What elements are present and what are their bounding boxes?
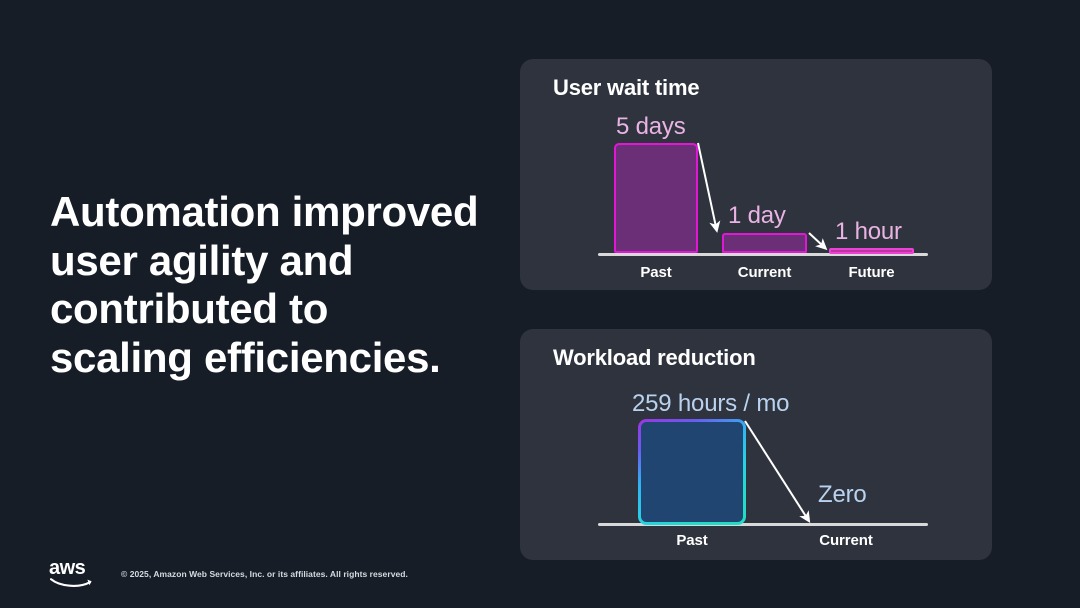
slide-canvas: Automation improved user agility and con…	[0, 0, 1080, 608]
category-label-current: Current	[722, 264, 807, 281]
bar-past	[614, 143, 698, 253]
value-label-current: Zero	[818, 481, 867, 509]
page-title: Automation improved user agility and con…	[50, 188, 480, 382]
category-label-future: Future	[829, 264, 914, 281]
value-label-current: 1 day	[728, 202, 786, 230]
chart-user-wait-time: 5 days 1 day 1 hour Past Current Future	[520, 59, 992, 290]
aws-logo-text: aws	[49, 558, 85, 578]
category-label-past: Past	[614, 264, 698, 281]
aws-logo-icon: aws	[49, 559, 95, 589]
category-label-current: Current	[792, 532, 900, 549]
card-workload-reduction: Workload reduction	[520, 329, 992, 560]
copyright-text: © 2025, Amazon Web Services, Inc. or its…	[121, 569, 408, 579]
value-label-past: 259 hours / mo	[632, 390, 789, 418]
chart-workload-reduction: 259 hours / mo Zero Past Current	[520, 329, 992, 560]
bar-past	[638, 419, 746, 525]
footer: aws © 2025, Amazon Web Services, Inc. or…	[49, 554, 408, 594]
aws-smile-icon	[50, 577, 94, 588]
bar-current	[722, 233, 807, 253]
value-label-future: 1 hour	[835, 218, 902, 246]
category-label-past: Past	[638, 532, 746, 549]
card-user-wait-time: User wait time 5 days 1 day 1 h	[520, 59, 992, 290]
bar-future	[829, 248, 914, 254]
value-label-past: 5 days	[616, 113, 686, 141]
